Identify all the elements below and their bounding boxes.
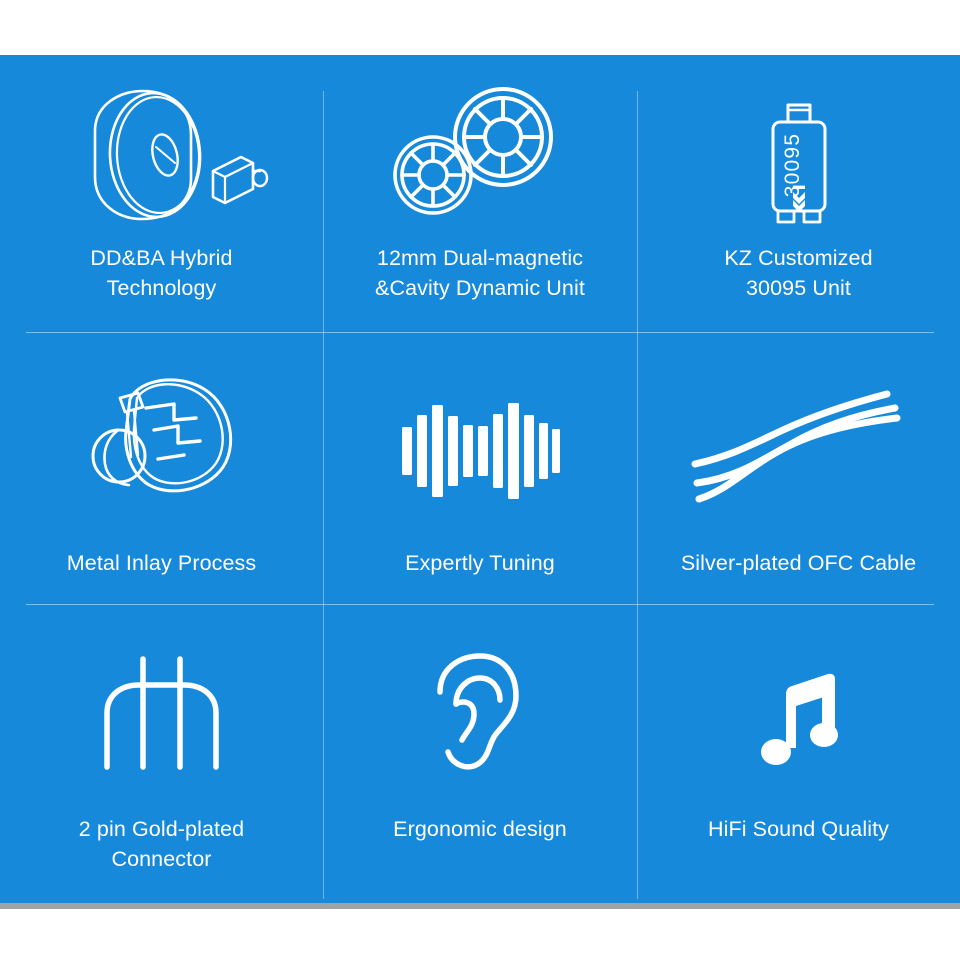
icon-area [323, 55, 637, 223]
feature-label: KZ Customized 30095 Unit [724, 243, 872, 303]
feature-cell-kz-30095-unit[interactable]: 30095 KZ Customized 30095 Unit [637, 55, 960, 332]
two-pin-connector-icon [99, 657, 224, 772]
icon-area [637, 622, 960, 772]
feature-cell-dd-ba-hybrid[interactable]: DD&BA Hybrid Technology [0, 55, 323, 332]
dual-dynamic-driver-coils-icon [385, 83, 575, 223]
dynamic-driver-and-balanced-armature-icon [57, 83, 267, 223]
driver-small [395, 137, 471, 213]
icon-area [323, 356, 637, 506]
feature-label: Expertly Tuning [405, 548, 555, 578]
feature-cell-expertly-tuning[interactable]: Expertly Tuning [323, 332, 637, 604]
feature-label: HiFi Sound Quality [708, 814, 889, 844]
feature-label: 2 pin Gold-plated Connector [79, 814, 244, 874]
icon-area: 30095 [637, 55, 960, 223]
feature-cell-silver-plated-ofc-cable[interactable]: Silver-plated OFC Cable [637, 332, 960, 604]
feature-label: 12mm Dual-magnetic &Cavity Dynamic Unit [375, 243, 585, 303]
feature-grid-page: DD&BA Hybrid Technology [0, 0, 960, 960]
icon-area [0, 622, 323, 772]
icon-area [323, 622, 637, 772]
earphone-shell-metal-faceplate-icon [74, 371, 249, 506]
ear-outline-icon [430, 652, 530, 772]
feature-cell-metal-inlay-process[interactable]: Metal Inlay Process [0, 332, 323, 604]
music-note-icon [754, 672, 844, 772]
feature-label: Ergonomic design [393, 814, 567, 844]
icon-area [637, 356, 960, 506]
blue-feature-panel: DD&BA Hybrid Technology [0, 55, 960, 903]
feature-cell-2-pin-gold-plated-connector[interactable]: 2 pin Gold-plated Connector [0, 604, 323, 903]
feature-label: Metal Inlay Process [67, 548, 257, 578]
feature-cell-ergonomic-design[interactable]: Ergonomic design [323, 604, 637, 903]
icon-area [0, 356, 323, 506]
feature-cell-hifi-sound-quality[interactable]: HiFi Sound Quality [637, 604, 960, 903]
twisted-cable-strands-icon [691, 386, 906, 506]
feature-label: Silver-plated OFC Cable [681, 548, 916, 578]
footer-divider-rule [0, 903, 960, 909]
feature-label: DD&BA Hybrid Technology [90, 243, 232, 303]
icon-area [0, 55, 323, 223]
feature-grid: DD&BA Hybrid Technology [0, 55, 960, 903]
audio-equalizer-waveform-icon [400, 396, 560, 506]
balanced-armature-30095-icon: 30095 [739, 83, 859, 223]
feature-cell-dual-magnetic-dynamic-unit[interactable]: 12mm Dual-magnetic &Cavity Dynamic Unit [323, 55, 637, 332]
